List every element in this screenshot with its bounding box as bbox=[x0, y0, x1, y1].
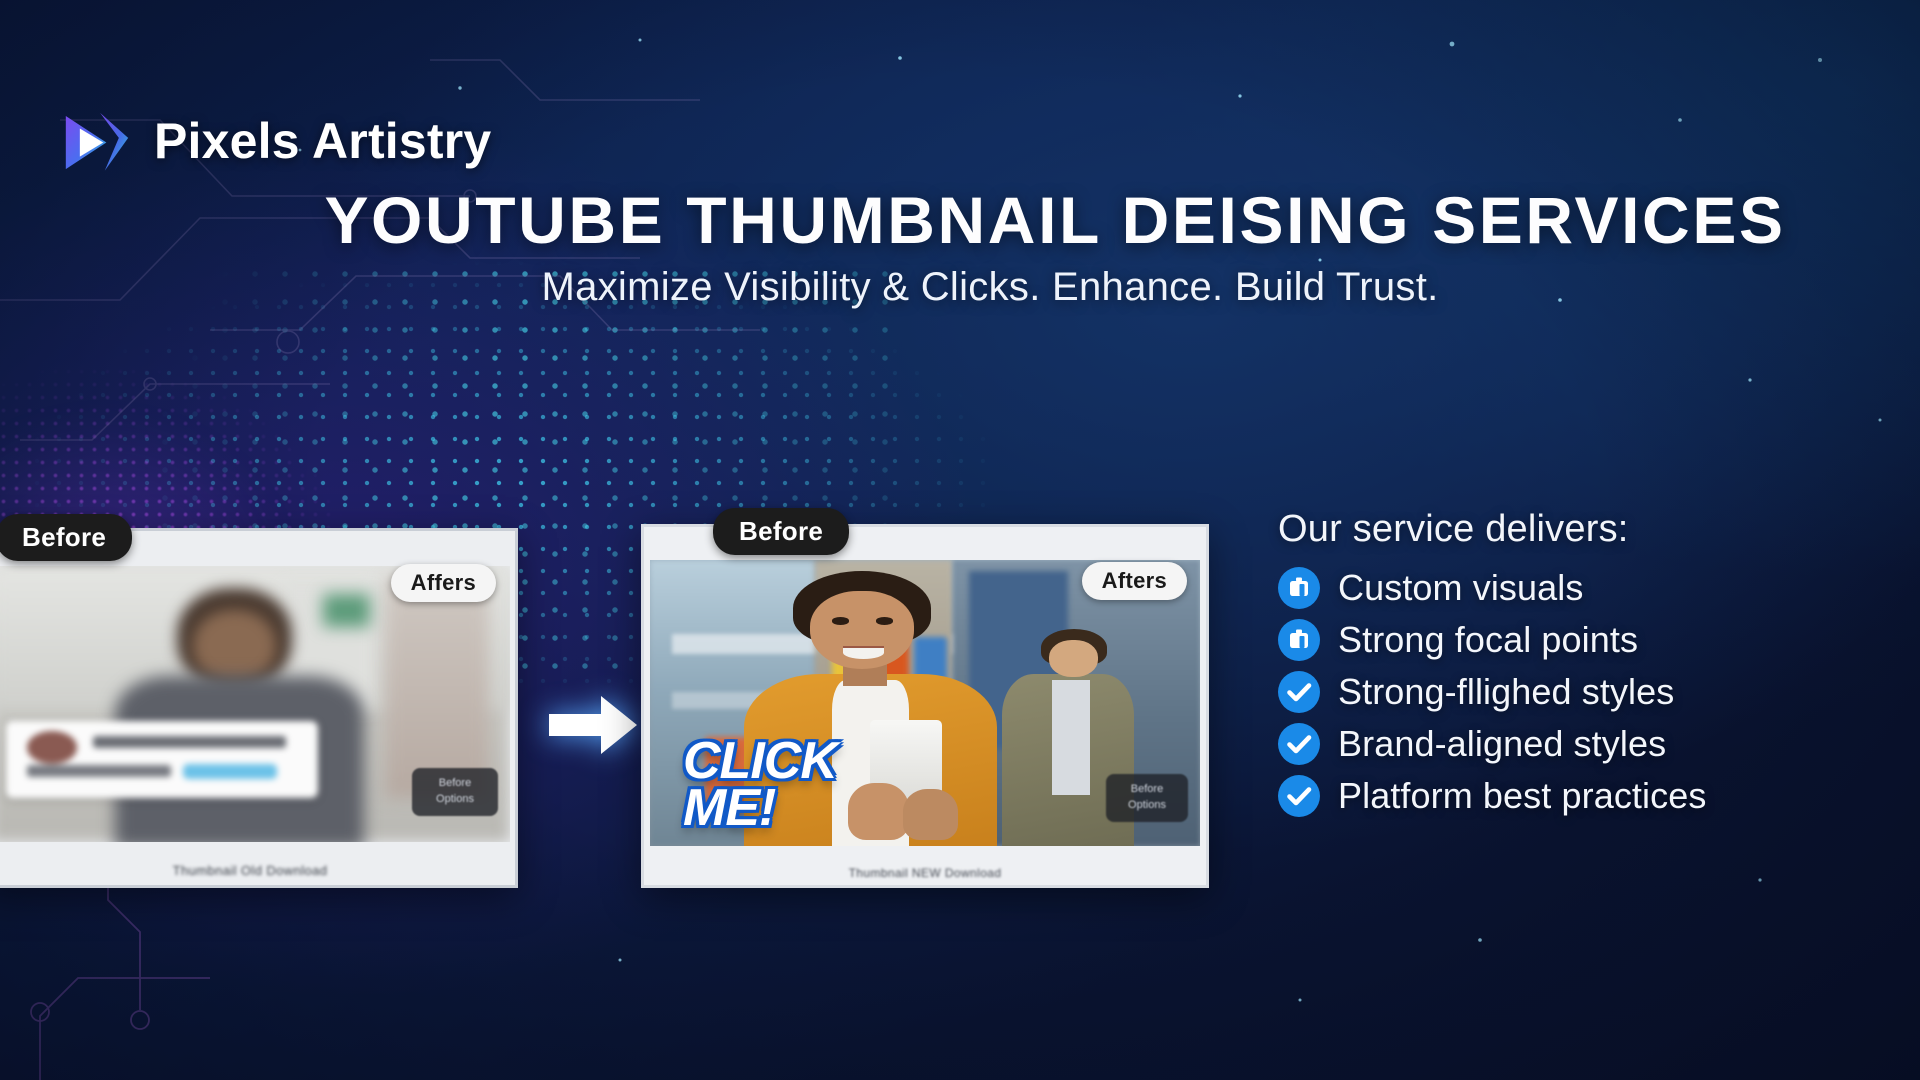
after-badge: Affers bbox=[391, 564, 496, 602]
list-item[interactable]: Custom visuals bbox=[1278, 567, 1878, 609]
play-button-logo-icon bbox=[58, 102, 136, 180]
before-photo: Before Options bbox=[0, 566, 510, 842]
camera-badge-icon bbox=[1278, 619, 1320, 661]
list-item-label: Brand-aligned styles bbox=[1338, 723, 1666, 765]
deliverables-lead: Our service delivers: bbox=[1278, 508, 1878, 551]
list-item-label: Custom visuals bbox=[1338, 567, 1583, 609]
click-me-line1: CLICK bbox=[683, 738, 837, 785]
page-title: YOUTUBE THUMBNAIL DEISING SERVICES bbox=[0, 182, 1920, 258]
page-subtitle: Maximize Visibility & Clicks. Enhance. B… bbox=[0, 265, 1920, 310]
list-item-label: Platform best practices bbox=[1338, 775, 1706, 817]
before-overlay-badge: Before Options bbox=[412, 768, 498, 816]
brand-name: Pixels Artistry bbox=[154, 112, 491, 170]
check-circle-icon bbox=[1278, 775, 1320, 817]
click-me-overlay: CLICK ME! bbox=[683, 738, 837, 832]
before-thumbnail-card[interactable]: Before Options Before Affers Thumbnail O… bbox=[0, 528, 518, 888]
list-item[interactable]: Strong-fllighed styles bbox=[1278, 671, 1878, 713]
check-circle-icon bbox=[1278, 723, 1320, 765]
deliverables-panel: Our service delivers: Custom visuals Str… bbox=[1278, 508, 1878, 827]
before-inset-card bbox=[6, 721, 318, 798]
list-item-label: Strong focal points bbox=[1338, 619, 1638, 661]
check-circle-icon bbox=[1278, 671, 1320, 713]
after-photo: CLICK ME! Before Options bbox=[650, 560, 1200, 846]
before-badge: Before bbox=[0, 514, 132, 561]
poster-canvas: Pixels Artistry YOUTUBE THUMBNAIL DEISIN… bbox=[0, 0, 1920, 1080]
after-caption: Thumbnail NEW Download bbox=[641, 866, 1209, 880]
list-item[interactable]: Strong focal points bbox=[1278, 619, 1878, 661]
camera-badge-icon bbox=[1278, 567, 1320, 609]
before-caption: Thumbnail Old Download bbox=[0, 863, 518, 878]
list-item-label: Strong-fllighed styles bbox=[1338, 671, 1674, 713]
after-overlay-badge: Before Options bbox=[1106, 774, 1188, 822]
after-badge: Afters bbox=[1082, 562, 1187, 600]
click-me-line2: ME! bbox=[683, 785, 837, 832]
arrow-right-icon bbox=[545, 688, 641, 762]
list-item[interactable]: Brand-aligned styles bbox=[1278, 723, 1878, 765]
before-badge: Before bbox=[713, 508, 849, 555]
after-thumbnail-card[interactable]: CLICK ME! Before Options Before Afters T… bbox=[641, 524, 1209, 888]
brand-lockup: Pixels Artistry bbox=[58, 102, 491, 180]
list-item[interactable]: Platform best practices bbox=[1278, 775, 1878, 817]
avatar bbox=[27, 731, 77, 763]
